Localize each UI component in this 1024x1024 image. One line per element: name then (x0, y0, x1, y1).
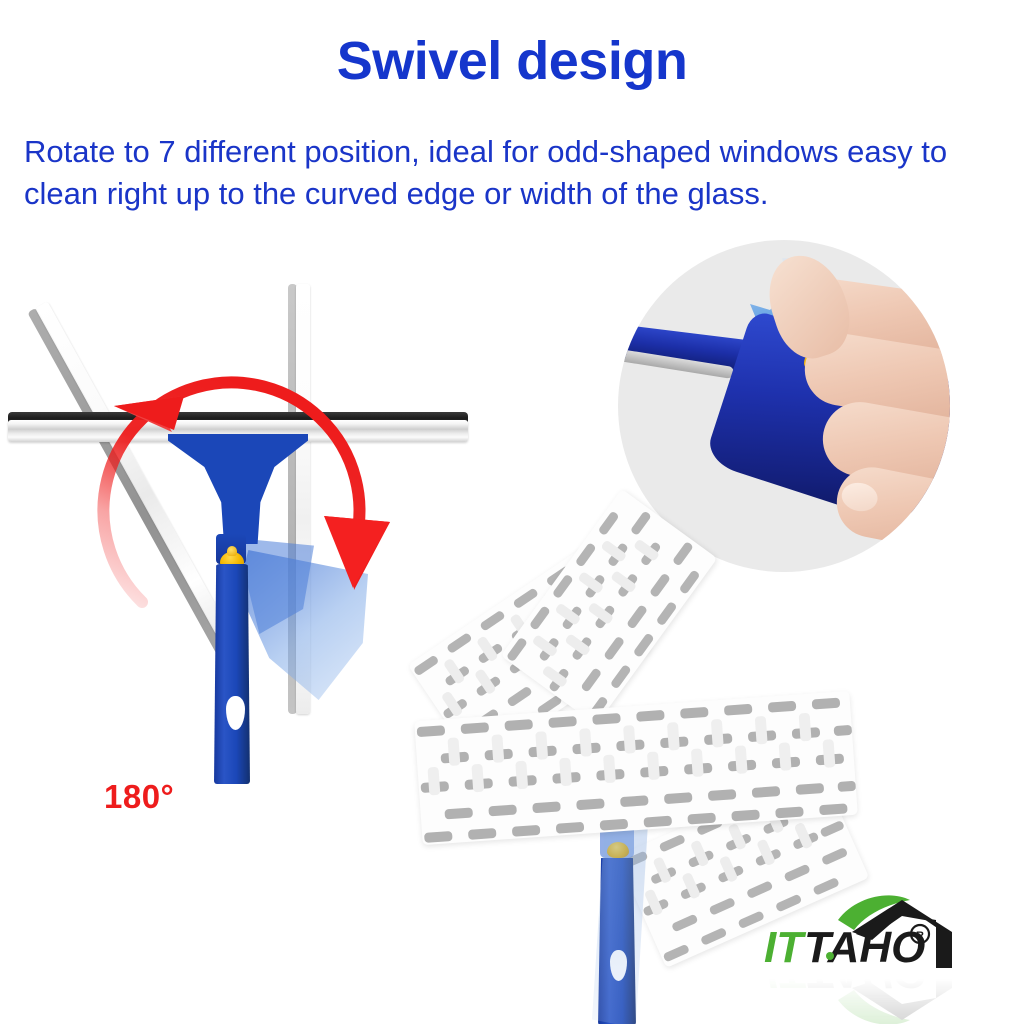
hand-icon (776, 280, 950, 572)
squeegee-handle-icon (594, 818, 640, 1024)
logo-text-it: IT (764, 923, 806, 972)
logo-reflection-mark: IT TAHO (760, 974, 1010, 1024)
svg-text:R: R (916, 930, 924, 942)
svg-text:TAHO: TAHO (804, 974, 925, 997)
page-title: Swivel design (0, 30, 1024, 92)
svg-text:IT: IT (764, 974, 806, 997)
rotation-arc-icon (88, 272, 418, 672)
angle-label: 180° (104, 778, 174, 816)
brand-logo: IT TAHO R IT TAHO (760, 890, 1010, 1020)
page-subtitle: Rotate to 7 different position, ideal fo… (24, 131, 1016, 215)
logo-text-taho: TAHO (804, 923, 925, 972)
logo-mark: IT TAHO R (760, 890, 1010, 976)
infographic-page: Swivel design Rotate to 7 different posi… (0, 0, 1024, 1024)
fingernail (839, 480, 880, 514)
logo-reflection: IT TAHO (760, 974, 1010, 1024)
